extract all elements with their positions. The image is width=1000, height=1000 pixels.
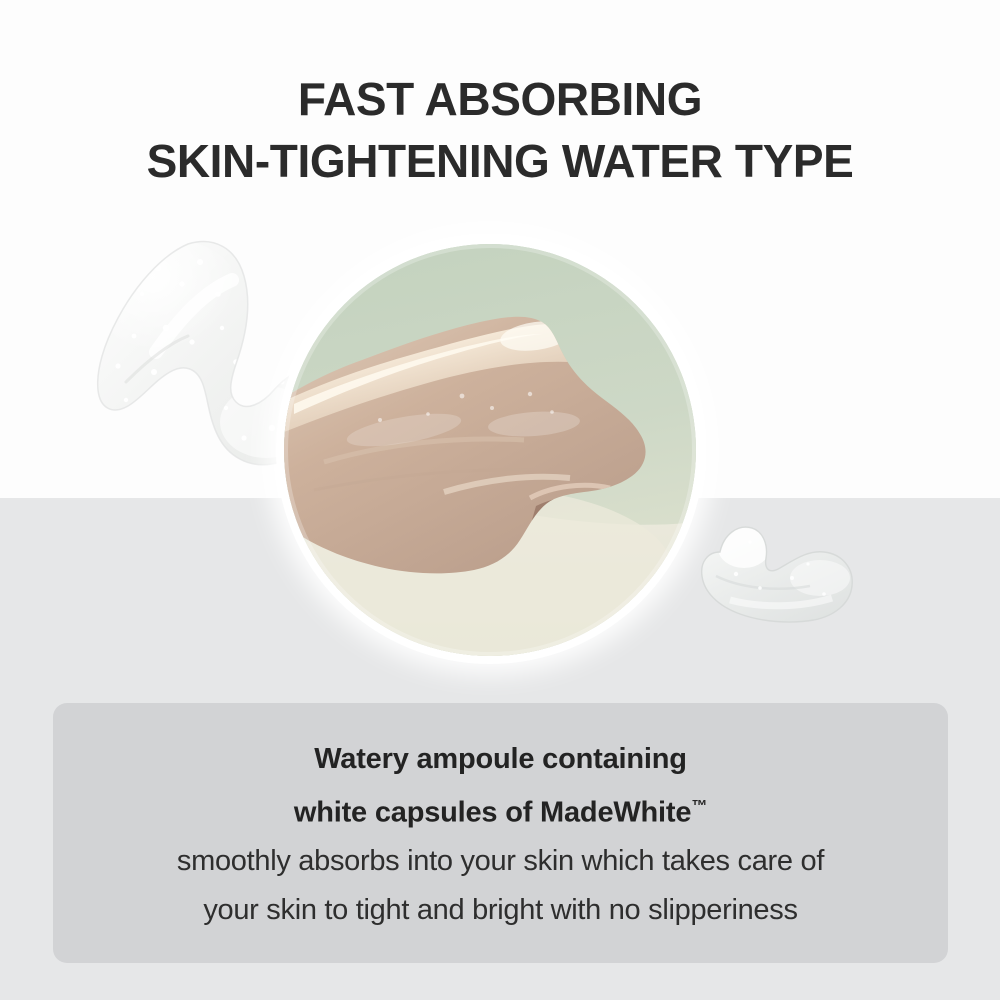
- headline: FAST ABSORBING SKIN-TIGHTENING WATER TYP…: [0, 68, 1000, 192]
- caption-panel: Watery ampoule containing white capsules…: [53, 703, 948, 963]
- trademark-symbol: ™: [691, 798, 707, 815]
- caption-brand-text: white capsules of MadeWhite: [294, 797, 691, 829]
- hero-image: [284, 244, 696, 656]
- caption-bold-line-2: white capsules of MadeWhite™: [53, 783, 948, 837]
- caption-bold-line-1: Watery ampoule containing: [53, 735, 948, 783]
- caption-regular-line-2: your skin to tight and bright with no sl…: [53, 886, 948, 935]
- gel-blob-right: [690, 516, 862, 632]
- headline-line-1: FAST ABSORBING: [0, 68, 1000, 130]
- hero-photo-circle: [276, 236, 704, 664]
- product-feature-graphic: FAST ABSORBING SKIN-TIGHTENING WATER TYP…: [0, 0, 1000, 1000]
- caption-regular-line-1: smoothly absorbs into your skin which ta…: [53, 837, 948, 886]
- headline-line-2: SKIN-TIGHTENING WATER TYPE: [0, 130, 1000, 192]
